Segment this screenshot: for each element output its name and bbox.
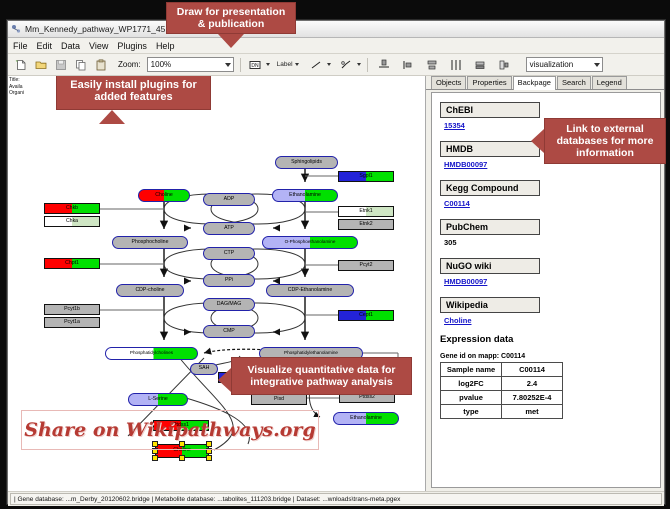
screenshot-root: Mm_Kennedy_pathway_WP1771_45176.gpml Fil… [0, 0, 670, 509]
node-label: ATP [224, 226, 234, 231]
side-panel-tabs: Objects Properties Backpage Search Legen… [426, 76, 664, 90]
datanode-tool[interactable]: DN [247, 56, 270, 73]
db-header-kegg: Kegg Compound [440, 180, 540, 196]
tab-properties[interactable]: Properties [467, 76, 511, 89]
metabolite-node-cdp-ethanolamine[interactable]: CDP-Ethanolamine [266, 284, 354, 297]
metabolite-node-choline-top[interactable]: Choline [138, 189, 190, 202]
draw-callout-arrow [218, 34, 244, 48]
selection-handle[interactable] [179, 455, 185, 461]
node-label: Etnk2 [359, 222, 372, 227]
metabolite-node-ethanolamine-bottom[interactable]: Ethanolamine [333, 412, 399, 425]
metabolite-node-sah[interactable]: SAH [190, 363, 218, 375]
metabolite-node-dag-mag[interactable]: DAG/MAG [203, 298, 255, 311]
status-text: | Gene database: ...m_Derby_20120602.bri… [10, 493, 662, 505]
tab-search[interactable]: Search [557, 76, 591, 89]
paste-icon[interactable] [92, 56, 109, 73]
node-label: Etnk1 [359, 209, 372, 214]
gene-node-etnk1[interactable]: Etnk1 [338, 206, 394, 217]
align-top-icon[interactable] [376, 56, 393, 73]
cell-key: Sample name [441, 363, 502, 377]
gene-node-sgpl1[interactable]: Sgpl1 [338, 171, 394, 182]
visualization-combobox[interactable]: visualization [526, 57, 603, 72]
datanode-icon[interactable]: DN [247, 56, 264, 73]
interaction-icon[interactable] [338, 56, 355, 73]
node-label: Phosphocholine [132, 240, 169, 245]
node-label: Chkb [66, 206, 78, 211]
gene-id-label: Gene id on mapp: C00114 [440, 353, 660, 360]
draw-callout: Draw for presentation & publication [166, 2, 296, 34]
title-bar: Mm_Kennedy_pathway_WP1771_45176.gpml [8, 21, 664, 38]
visualization-value: visualization [530, 60, 574, 69]
node-label: Ethanolamine [350, 416, 382, 421]
menu-view[interactable]: View [89, 41, 108, 51]
gene-node-chpt1-left[interactable]: Chpt1 [44, 258, 100, 269]
db-header-hmdb: HMDB [440, 141, 540, 157]
cell-key: log2FC [441, 377, 502, 391]
node-label: PPi [225, 278, 233, 283]
db-link-wikipedia[interactable]: Choline [444, 316, 660, 325]
db-link-nugo[interactable]: HMDB00097 [444, 277, 660, 286]
pathvisio-window: Mm_Kennedy_pathway_WP1771_45176.gpml Fil… [7, 20, 665, 504]
new-icon[interactable] [12, 56, 29, 73]
table-row: type met [441, 405, 563, 419]
toolbar-separator [367, 58, 368, 72]
gene-node-cept1[interactable]: Cept1 [338, 310, 394, 321]
node-label: Choline [155, 193, 173, 198]
chevron-down-icon[interactable] [266, 63, 270, 66]
share-callout: Share on Wikipathways.org [21, 410, 319, 450]
gene-node-chka[interactable]: Chka [44, 216, 100, 227]
node-label: Sgpl1 [359, 174, 372, 179]
cell-value: 2.4 [502, 377, 563, 391]
menu-plugins[interactable]: Plugins [117, 41, 147, 51]
zoom-label: Zoom: [118, 60, 141, 69]
plugins-callout-text: Easily install plugins for added feature… [63, 79, 204, 103]
tab-legend[interactable]: Legend [592, 76, 627, 89]
db-section-wikipedia: Wikipedia Choline [440, 295, 660, 325]
expression-data-title: Expression data [440, 334, 660, 345]
node-label: Pcyt1a [64, 320, 80, 325]
share-callout-text: Share on Wikipathways.org [24, 419, 315, 441]
node-label: DAG/MAG [217, 302, 242, 307]
cell-key: type [441, 405, 502, 419]
metabolite-node-o-phosphoethanolamine[interactable]: O-Phosphoethanolamine [262, 236, 358, 249]
node-label: CDP-choline [135, 288, 164, 293]
group-icon[interactable] [496, 56, 513, 73]
metabolite-node-sphingolipids[interactable]: Sphingolipids [275, 156, 338, 169]
table-row: pvalue 7.80252E-4 [441, 391, 563, 405]
metabolite-node-adp[interactable]: ADP [203, 193, 255, 206]
expression-table: Sample name C00114 log2FC 2.4 pvalue 7.8… [440, 362, 563, 419]
node-label: SAH [199, 366, 210, 371]
node-label: L-Serine [148, 397, 168, 402]
node-label: Phosphatidylethanolamine [284, 351, 338, 356]
db-header-nugo: NuGO wiki [440, 258, 540, 274]
node-label: Pcyt2 [360, 263, 373, 268]
line-tool[interactable] [308, 56, 331, 73]
gene-node-etnk2[interactable]: Etnk2 [338, 219, 394, 230]
tab-backpage[interactable]: Backpage [513, 76, 556, 90]
gene-node-chkb[interactable]: Chkb [44, 203, 100, 214]
menu-bar: File Edit Data View Plugins Help [8, 38, 664, 54]
gene-node-pcyt2[interactable]: Pcyt2 [338, 260, 394, 271]
align-left-icon[interactable] [400, 56, 417, 73]
node-label: Sphingolipids [291, 160, 322, 165]
plugins-callout-arrow [99, 110, 125, 124]
node-label: Chka [66, 219, 78, 224]
node-label: CTP [224, 251, 234, 256]
label-tool-text: Label [277, 61, 293, 68]
cell-value: met [502, 405, 563, 419]
zoom-value: 100% [151, 60, 171, 69]
node-label: CDP-Ethanolamine [288, 288, 332, 293]
db-section-pubchem: PubChem 305 [440, 217, 660, 247]
node-label: Ethanolamine [289, 193, 321, 198]
menu-file[interactable]: File [13, 41, 28, 51]
metabolite-node-ethanolamine-top[interactable]: Ethanolamine [272, 189, 338, 202]
zoom-combobox[interactable]: 100% [147, 57, 234, 72]
chevron-down-icon [594, 63, 600, 67]
node-label: Ptdss2 [359, 395, 375, 400]
metabolite-node-phosphocholine[interactable]: Phosphocholine [112, 236, 188, 249]
svg-text:DN: DN [252, 63, 260, 69]
chevron-down-icon [225, 63, 231, 67]
gene-node-pcyt1a[interactable]: Pcyt1a [44, 317, 100, 328]
chevron-down-icon[interactable] [357, 63, 361, 66]
node-label: CMP [223, 329, 235, 334]
copy-icon[interactable] [72, 56, 89, 73]
db-section-kegg: Kegg Compound C00114 [440, 178, 660, 208]
cell-value: C00114 [502, 363, 563, 377]
node-label: ADP [224, 197, 235, 202]
stack-icon[interactable] [472, 56, 489, 73]
line-icon[interactable] [308, 56, 325, 73]
metabolite-node-atp[interactable]: ATP [203, 222, 255, 235]
node-label: Pisd [274, 397, 284, 402]
links-callout-arrow [531, 129, 544, 153]
menu-help[interactable]: Help [156, 41, 175, 51]
chevron-down-icon[interactable] [327, 63, 331, 66]
db-header-chebi: ChEBI [440, 102, 540, 118]
db-link-kegg[interactable]: C00114 [444, 199, 660, 208]
links-callout: Link to external databases for more info… [544, 118, 666, 164]
visualize-callout-text: Visualize quantitative data for integrat… [238, 364, 405, 388]
node-label: O-Phosphoethanolamine [285, 240, 336, 245]
selection-handle[interactable] [152, 455, 158, 461]
node-label: Phosphatidylcholines [130, 351, 173, 356]
cell-key: pvalue [441, 391, 502, 405]
align-center-icon[interactable] [424, 56, 441, 73]
label-tool[interactable]: Label [277, 61, 299, 68]
save-icon[interactable] [52, 56, 69, 73]
chevron-down-icon[interactable] [295, 63, 299, 66]
table-row: log2FC 2.4 [441, 377, 563, 391]
visualize-callout-arrow [218, 368, 231, 392]
draw-callout-text: Draw for presentation & publication [173, 6, 289, 30]
metabolite-node-ctp[interactable]: CTP [203, 247, 255, 260]
metabolite-node-ppi[interactable]: PPi [203, 274, 255, 287]
db-header-pubchem: PubChem [440, 219, 540, 235]
pathvisio-app-icon [11, 24, 21, 34]
db-section-nugo: NuGO wiki HMDB00097 [440, 256, 660, 286]
gene-node-pisd[interactable]: Pisd [251, 394, 307, 405]
plugins-callout: Easily install plugins for added feature… [56, 76, 211, 110]
metabolite-node-cmp[interactable]: CMP [203, 325, 255, 338]
menu-data[interactable]: Data [61, 41, 80, 51]
status-bar: | Gene database: ...m_Derby_20120602.bri… [8, 491, 664, 506]
metabolite-node-phosphatidylcholines[interactable]: Phosphatidylcholines [105, 347, 198, 360]
open-folder-icon[interactable] [32, 56, 49, 73]
gene-node-pcyt1b[interactable]: Pcyt1b [44, 304, 100, 315]
db-value-pubchem: 305 [444, 238, 660, 247]
links-callout-text: Link to external databases for more info… [551, 123, 659, 159]
metabolite-node-cdp-choline[interactable]: CDP-choline [116, 284, 184, 297]
visualize-callout: Visualize quantitative data for integrat… [231, 357, 412, 395]
node-label: Cept1 [359, 313, 373, 318]
tab-objects[interactable]: Objects [431, 76, 466, 89]
db-header-wikipedia: Wikipedia [440, 297, 540, 313]
same-width-icon[interactable] [448, 56, 465, 73]
selection-handle[interactable] [206, 455, 212, 461]
interaction-tool[interactable] [338, 56, 361, 73]
menu-edit[interactable]: Edit [37, 41, 53, 51]
metabolite-node-l-serine-left[interactable]: L-Serine [128, 393, 188, 406]
toolbar-separator [240, 58, 241, 72]
table-row: Sample name C00114 [441, 363, 563, 377]
node-label: Chpt1 [65, 261, 79, 266]
node-label: Pcyt1b [64, 307, 80, 312]
pathway-canvas[interactable]: Title: Availa Organi [8, 76, 426, 491]
cell-value: 7.80252E-4 [502, 391, 563, 405]
tool-bar: Zoom: 100% DN Label [8, 54, 664, 76]
